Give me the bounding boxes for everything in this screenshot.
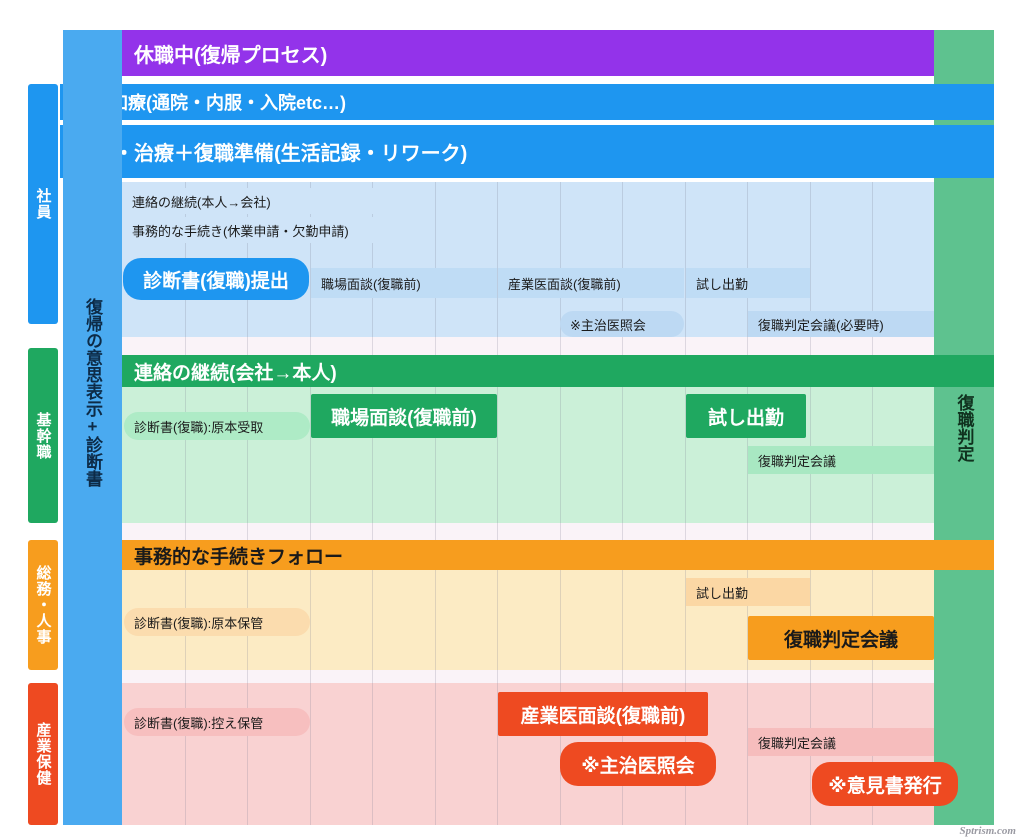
task-attending-doctor-ref-employee-label: ※主治医照会: [570, 315, 646, 334]
banner-leave-process-label: 休職中(復帰プロセス): [134, 39, 327, 68]
task-attending-doctor-ref-employee[interactable]: ※主治医照会: [560, 311, 684, 337]
task-admin-follow[interactable]: 事務的な手続きフォロー: [122, 540, 994, 570]
task-submit-certificate[interactable]: 診断書(復職)提出: [123, 258, 309, 300]
task-occ-doctor-interview-occ[interactable]: 産業医面談(復職前): [498, 692, 708, 736]
task-return-judgment-hr[interactable]: 復職判定会議: [748, 616, 934, 660]
task-admin-follow-label: 事務的な手続きフォロー: [134, 542, 343, 569]
role-label-employee: 社員: [28, 84, 58, 324]
task-return-judgment-occ-label: 復職判定会議: [758, 733, 836, 752]
task-trial-attendance-manager[interactable]: 試し出勤: [686, 394, 806, 438]
task-contact-continue-self-label: 連絡の継続(本人→会社): [132, 192, 271, 211]
role-label-hr-text: 総務・人事: [33, 565, 54, 645]
lane-gap-1: [122, 337, 934, 355]
phase-left-label: 復帰の意思表示+診断書: [63, 182, 122, 602]
banner-rest-prepare: 休養・治療＋復職準備(生活記録・リワーク): [60, 125, 994, 178]
task-occ-doctor-interview-employee-label: 産業医面談(復職前): [508, 274, 621, 293]
task-return-judgment-opt-employee[interactable]: 復職判定会議(必要時): [748, 311, 934, 337]
lane-gap-2: [122, 523, 934, 540]
task-certificate-store[interactable]: 診断書(復職):原本保管: [124, 608, 310, 636]
task-certificate-copy[interactable]: 診断書(復職):控え保管: [124, 708, 310, 736]
lane-gap-3: [122, 670, 934, 683]
role-label-manager-text: 基幹職: [33, 412, 54, 460]
role-label-hr: 総務・人事: [28, 540, 58, 670]
role-label-occhealth-text: 産業保健: [33, 722, 54, 786]
task-trial-attendance-employee-label: 試し出勤: [696, 274, 748, 293]
banner-leave-process: 休職中(復帰プロセス): [120, 30, 934, 76]
workflow-diagram: 復職判定 休職中(復帰プロセス) 通院加療(通院・内服・入院etc…) 休養・治…: [0, 0, 1024, 840]
task-workplace-interview-manager[interactable]: 職場面談(復職前): [311, 394, 497, 438]
banner-rest-prepare-label: 休養・治療＋復職準備(生活記録・リワーク): [74, 137, 467, 166]
task-return-judgment-manager[interactable]: 復職判定会議: [748, 446, 934, 474]
task-trial-attendance-hr[interactable]: 試し出勤: [686, 578, 810, 606]
task-return-judgment-occ[interactable]: 復職判定会議: [748, 728, 934, 756]
task-trial-attendance-manager-label: 試し出勤: [708, 403, 784, 430]
task-workplace-interview-employee[interactable]: 職場面談(復職前): [311, 268, 497, 298]
task-return-judgment-manager-label: 復職判定会議: [758, 451, 836, 470]
task-trial-attendance-employee[interactable]: 試し出勤: [686, 268, 810, 298]
task-attending-doctor-ref-occ[interactable]: ※主治医照会: [560, 742, 716, 786]
task-contact-continue-company-label: 連絡の継続(会社→本人): [134, 358, 337, 385]
banner-outpatient: 通院加療(通院・内服・入院etc…): [60, 84, 994, 120]
task-occ-doctor-interview-employee[interactable]: 産業医面談(復職前): [498, 268, 684, 298]
task-submit-certificate-label: 診断書(復職)提出: [143, 266, 289, 293]
task-admin-procedures[interactable]: 事務的な手続き(休業申請・欠勤申請): [122, 217, 412, 243]
role-label-occhealth: 産業保健: [28, 683, 58, 825]
role-label-manager: 基幹職: [28, 348, 58, 523]
task-contact-continue-self[interactable]: 連絡の継続(本人→会社): [122, 188, 412, 214]
task-workplace-interview-manager-label: 職場面談(復職前): [331, 403, 477, 430]
role-label-employee-text: 社員: [33, 188, 54, 220]
task-attending-doctor-ref-occ-label: ※主治医照会: [581, 751, 694, 778]
task-contact-continue-company[interactable]: 連絡の継続(会社→本人): [122, 355, 994, 387]
task-certificate-copy-label: 診断書(復職):控え保管: [134, 713, 263, 732]
task-admin-procedures-label: 事務的な手続き(休業申請・欠勤申請): [132, 221, 349, 240]
task-trial-attendance-hr-label: 試し出勤: [696, 583, 748, 602]
task-workplace-interview-employee-label: 職場面談(復職前): [321, 274, 421, 293]
task-issue-opinion-label: ※意見書発行: [828, 771, 941, 798]
task-return-judgment-opt-employee-label: 復職判定会議(必要時): [758, 315, 884, 334]
task-return-judgment-hr-label: 復職判定会議: [784, 625, 898, 652]
task-occ-doctor-interview-occ-label: 産業医面談(復職前): [521, 701, 686, 728]
task-certificate-receive-label: 診断書(復職):原本受取: [134, 417, 263, 436]
task-certificate-receive[interactable]: 診断書(復職):原本受取: [124, 412, 310, 440]
task-issue-opinion[interactable]: ※意見書発行: [812, 762, 958, 806]
site-credit: Sptrism.com: [959, 825, 1016, 837]
task-certificate-store-label: 診断書(復職):原本保管: [134, 613, 263, 632]
